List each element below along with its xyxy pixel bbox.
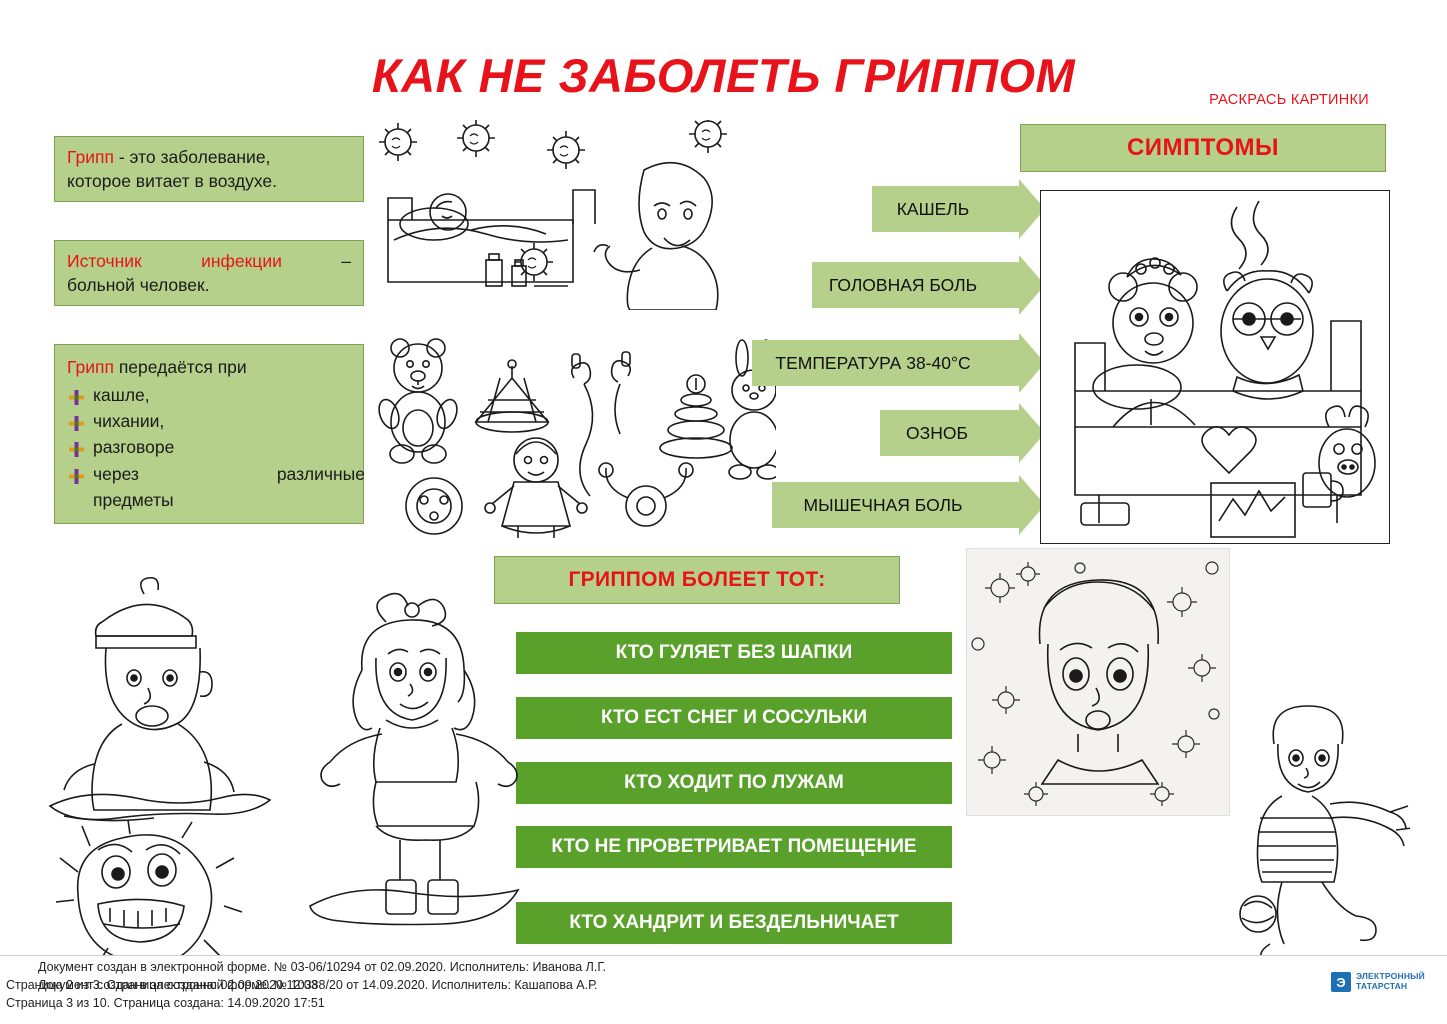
sick-person-illustration [376,120,756,310]
symptom-arrow-cough: КАШЕЛЬ [872,186,1020,232]
list-item-label-2: различные [277,462,365,486]
cross-bullet-icon [69,466,84,481]
who-gets-flu-item: КТО ХОДИТ ПО ЛУЖАМ [516,762,952,804]
footer-line-1: Документ создан в электронной форме. № 0… [38,960,606,974]
germs-around-head-illustration [966,548,1230,816]
cross-bullet-icon [69,413,84,428]
logo-mark-icon: Э [1331,972,1351,992]
cross-bullet-icon [69,439,84,454]
who-gets-flu-item: КТО НЕ ПРОВЕТРИВАЕТ ПОМЕЩЕНИЕ [516,826,952,868]
list-item: через различные [67,462,351,486]
list-item: чихании, [67,409,351,433]
footer: Документ создан в электронной форме. № 0… [0,955,1447,1024]
symptom-arrow-label: ГОЛОВНАЯ БОЛЬ [829,275,977,296]
info-box-disease: Грипп - это заболевание, которое витает … [54,136,364,202]
kid-with-scarf-illustration [1230,700,1410,990]
info-box-disease-rest: - это заболевание, [114,147,270,167]
symptom-arrow-label: ОЗНОБ [906,423,968,444]
symptom-arrow-temperature: ТЕМПЕРАТУРА 38-40°С [752,340,1020,386]
transmission-list: кашле, чихании, разговоре через [67,383,351,486]
logo-text: ЭЛЕКТРОННЫЙ ТАТАРСТАН [1356,972,1425,992]
footer-line-3: Страница 3 из 10. Страница создана: 14.0… [6,996,325,1010]
list-item: разговоре [67,435,351,459]
logo-line-2: ТАТАРСТАН [1356,982,1425,992]
symptom-arrow-chills: ОЗНОБ [880,410,1020,456]
transmission-last-line: предметы [93,488,351,512]
girl-on-ice-illustration [300,588,530,928]
list-item-label: чихании, [93,411,164,431]
who-gets-flu-item: КТО ГУЛЯЕТ БЕЗ ШАПКИ [516,632,952,674]
info-box-source-highlight: Источник [67,249,142,273]
toys-illustration [376,330,776,540]
list-item-label: кашле, [93,385,150,405]
list-item: кашле, [67,383,351,407]
info-box-transmission-highlight: Грипп [67,357,114,377]
footer-line-2-right: Документ создан в электронной форме. № 1… [38,978,598,992]
who-gets-flu-item: КТО ХАНДРИТ И БЕЗДЕЛЬНИЧАЕТ [516,902,952,944]
info-box-disease-line2: которое витает в воздухе. [67,169,351,193]
list-item-label: через [93,462,139,486]
info-box-source: Источник инфекции – больной человек. [54,240,364,306]
who-gets-flu-header: ГРИППОМ БОЛЕЕТ ТОТ: [494,556,900,604]
symptom-arrow-label: МЫШЕЧНАЯ БОЛЬ [804,495,963,516]
symptom-arrow-headache: ГОЛОВНАЯ БОЛЬ [812,262,1020,308]
poster-page: КАК НЕ ЗАБОЛЕТЬ ГРИППОМ РАСКРАСЬ КАРТИНК… [0,0,1447,1024]
symptoms-illustration [1040,190,1390,544]
info-box-source-line2: больной человек. [67,273,351,297]
who-gets-flu-item: КТО ЕСТ СНЕГ И СОСУЛЬКИ [516,697,952,739]
cross-bullet-icon [69,387,84,402]
info-box-transmission: Грипп передаётся при кашле, чихании, раз… [54,344,364,524]
symptoms-header: СИМПТОМЫ [1020,124,1386,172]
color-hint-label: РАСКРАСЬ КАРТИНКИ [1209,92,1369,108]
electronic-tatarstan-logo: Э ЭЛЕКТРОННЫЙ ТАТАРСТАН [1331,972,1425,992]
symptom-arrow-muscle-pain: МЫШЕЧНАЯ БОЛЬ [772,482,1020,528]
info-box-source-dash: – [341,249,351,273]
symptom-arrow-label: КАШЕЛЬ [897,199,970,220]
list-item-label: разговоре [93,437,174,457]
virus-monster-illustration [54,820,244,970]
info-box-disease-highlight: Грипп [67,147,114,167]
info-box-source-mid: инфекции [201,249,282,273]
symptom-arrow-label: ТЕМПЕРАТУРА 38-40°С [775,353,970,374]
boy-in-puddle-illustration [40,576,280,826]
info-box-transmission-rest: передаётся при [114,357,247,377]
